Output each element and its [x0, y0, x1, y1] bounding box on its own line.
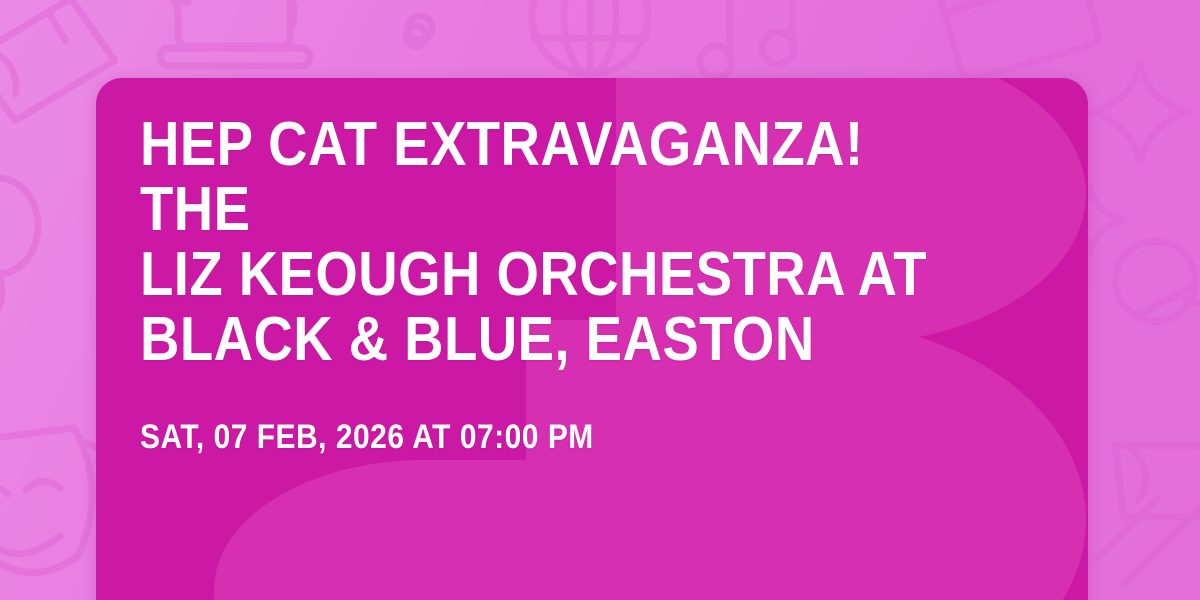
- event-date: SAT, 07 FEB, 2026 AT 07:00 PM: [140, 418, 936, 457]
- sparkle-icon: [1090, 64, 1190, 162]
- calendar-icon: [932, 0, 1100, 82]
- ticket-icon: [1099, 422, 1200, 542]
- event-card[interactable]: HEP CAT EXTRAVAGANZA! THE LIZ KEOUGH ORC…: [96, 78, 1088, 600]
- event-card-body: HEP CAT EXTRAVAGANZA! THE LIZ KEOUGH ORC…: [96, 78, 1088, 600]
- balloon-icon: [0, 178, 38, 320]
- microphone-icon: [1101, 217, 1200, 366]
- circle-icon: [406, 26, 426, 46]
- globe-icon: [532, 0, 648, 74]
- event-banner: HEP CAT EXTRAVAGANZA! THE LIZ KEOUGH ORC…: [0, 0, 1200, 600]
- music-note-icon: [700, 0, 794, 78]
- star-icon: [408, 16, 432, 40]
- laptop-icon: [160, 0, 310, 66]
- event-title: HEP CAT EXTRAVAGANZA! THE LIZ KEOUGH ORC…: [140, 112, 936, 372]
- ribbon-lines-icon: [1098, 498, 1200, 584]
